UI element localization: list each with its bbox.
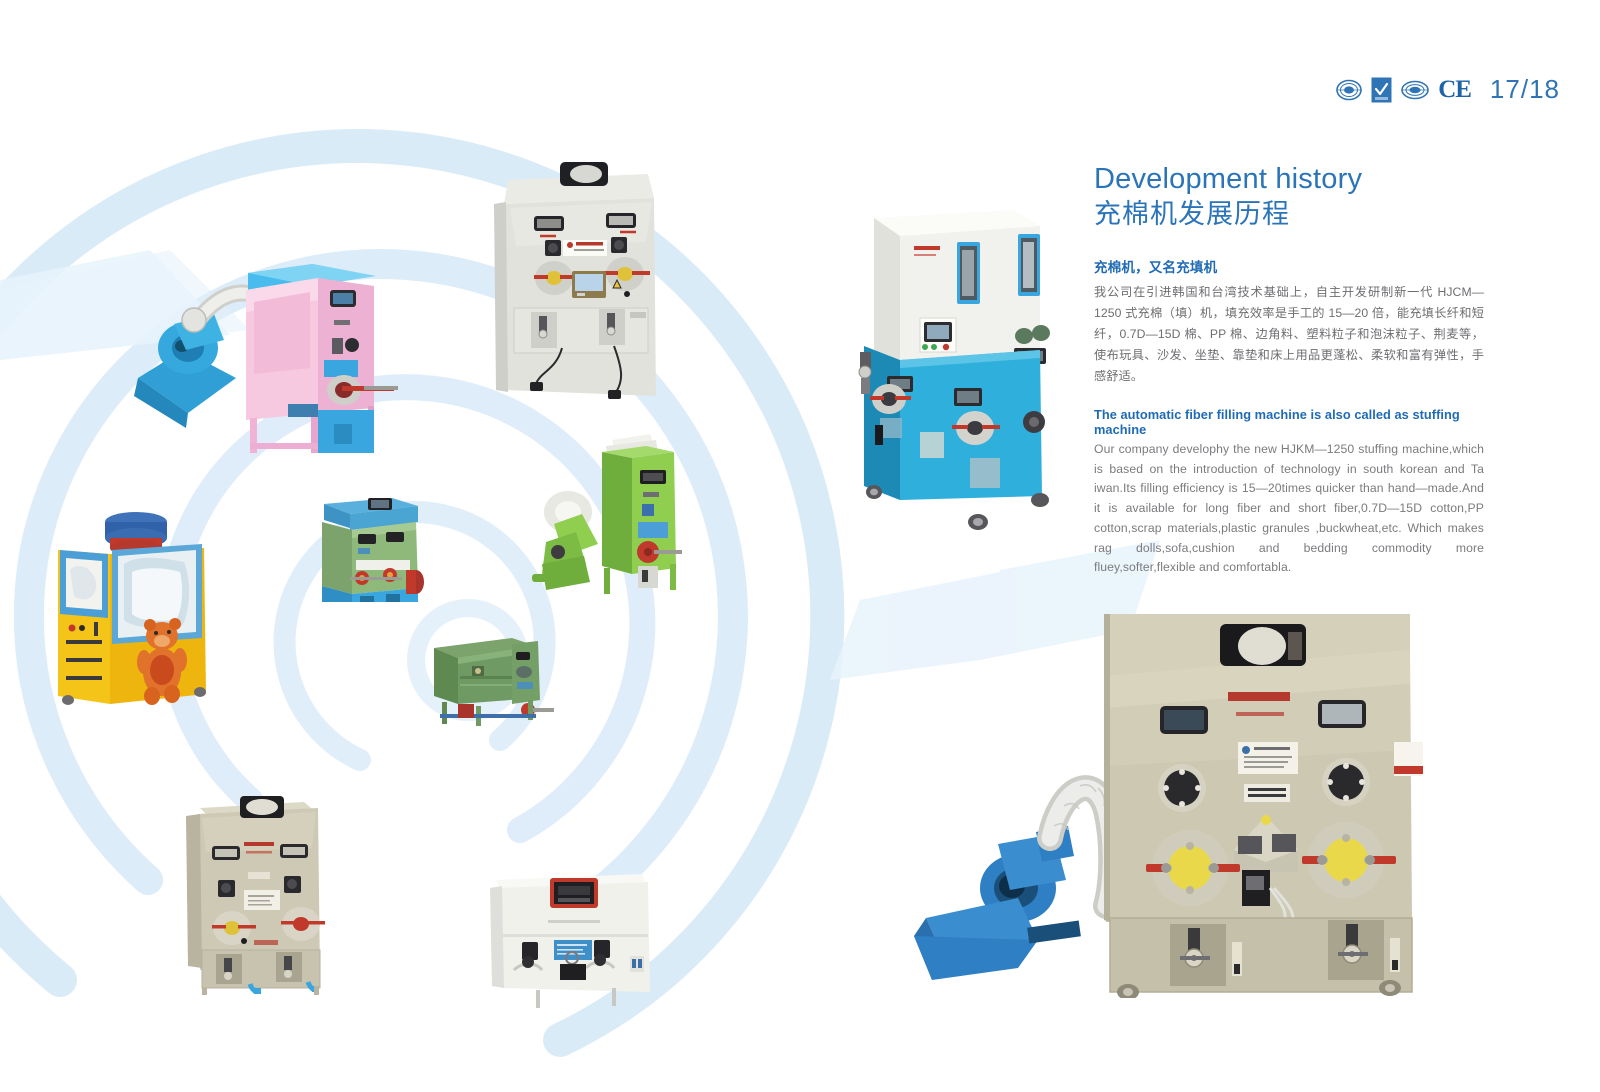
machine-yellow-bear-photo [44, 492, 229, 722]
iso-seal-icon [1336, 77, 1362, 103]
brochure-page: CE 17/18 Development history 充棉机发展历程 充棉机… [0, 0, 1600, 1092]
machine-green-opening-photo [424, 618, 554, 728]
machine-white-twin-station-photo [486, 858, 666, 1013]
machine-blue-white-hjcm-photo [842, 200, 1052, 540]
iaf-seal-icon [1401, 77, 1429, 103]
content-column: Development history 充棉机发展历程 充棉机，又名充填机 我公… [1094, 162, 1484, 578]
machine-green-blower-photo [524, 424, 689, 604]
header-badges: CE 17/18 [1336, 74, 1560, 105]
body-paragraph-english: Our company develophy the new HJKM—1250 … [1094, 440, 1484, 578]
machine-beige-large-photo [898, 588, 1423, 998]
check-badge-icon [1371, 77, 1392, 103]
body-paragraph-chinese: 我公司在引进韩国和台湾技术基础上，自主开发研制新一代 HJCM—1250 式充棉… [1094, 282, 1484, 387]
page-number: 17/18 [1490, 74, 1560, 105]
machine-green-blue-carding-photo [306, 482, 436, 602]
machine-beige-twin-station-photo [184, 790, 334, 995]
page-title-english: Development history [1094, 162, 1484, 196]
machine-pink-blower-photo [128, 228, 398, 453]
page-title-chinese: 充棉机发展历程 [1094, 198, 1484, 232]
subtitle-english: The automatic fiber filling machine is a… [1094, 407, 1484, 437]
machine-grey-twin-station-photo [494, 146, 674, 402]
ce-mark-icon: CE [1438, 77, 1471, 102]
subtitle-chinese: 充棉机，又名充填机 [1094, 256, 1484, 276]
